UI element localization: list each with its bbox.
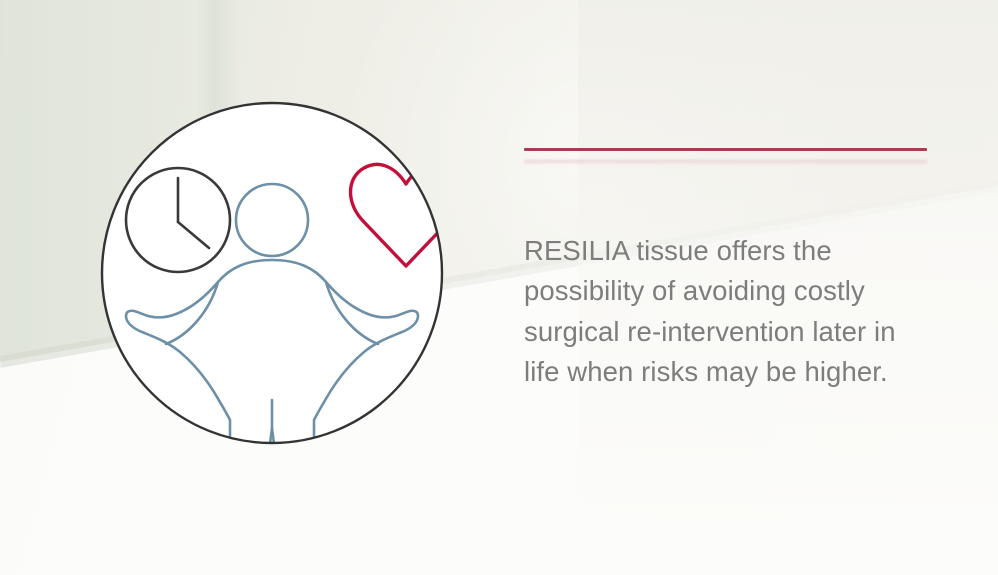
badge-circle-fill <box>102 103 442 443</box>
accent-rule <box>524 148 927 151</box>
copy-block <box>524 148 932 151</box>
slide-canvas: RESILIA tissue offers the possibility of… <box>0 0 998 575</box>
body-copy: RESILIA tissue offers the possibility of… <box>524 231 924 393</box>
illustration-badge <box>96 100 448 452</box>
clock-icon <box>126 168 230 272</box>
